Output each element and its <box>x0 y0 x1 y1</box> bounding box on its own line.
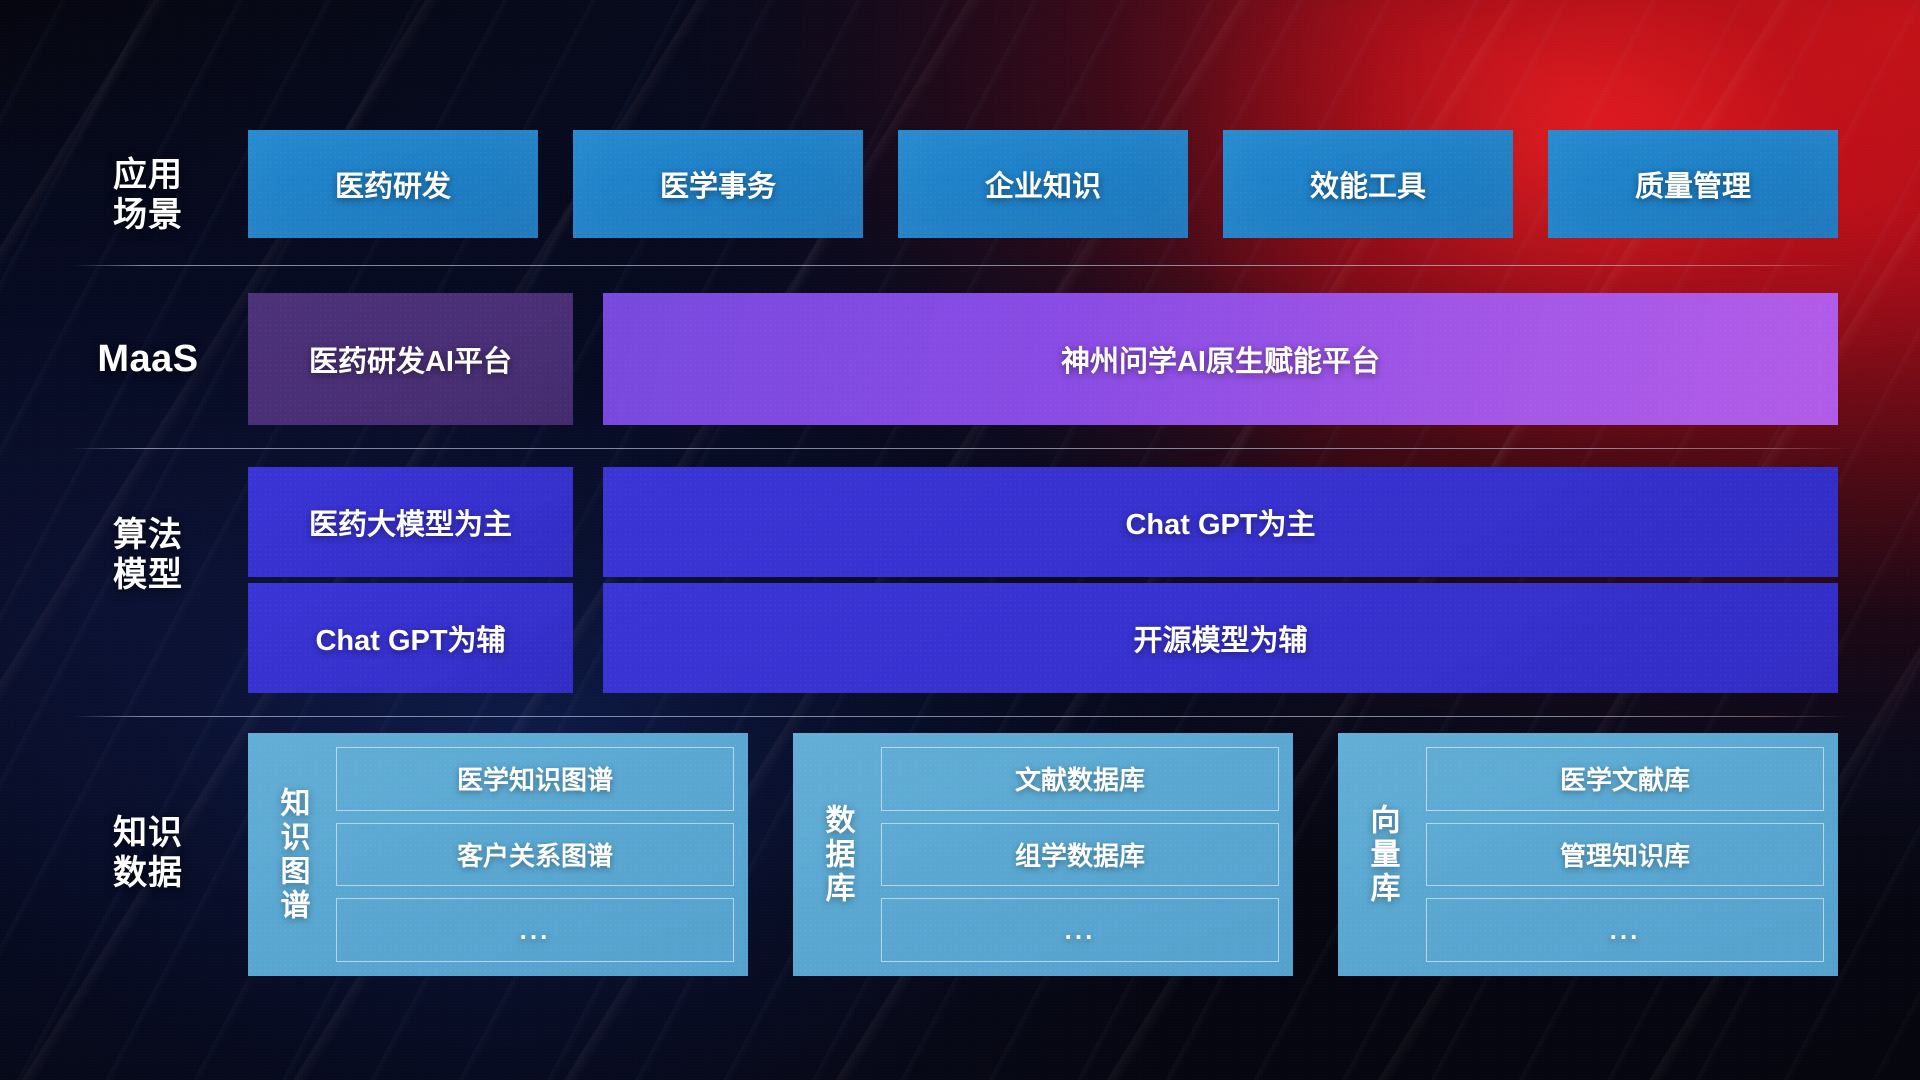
maas-platform-card-2[interactable]: 神州问学AI原生赋能平台 <box>603 293 1838 425</box>
knowledge-card-database-label: 数据库 <box>793 747 881 962</box>
slide-canvas: 应用 场景 医药研发 医学事务 企业知识 效能工具 质量管理 MaaS 医药研发… <box>0 0 1920 1080</box>
model-card-pharma-primary-label: 医药大模型为主 <box>309 501 512 543</box>
model-card-opensource-secondary[interactable]: 开源模型为辅 <box>603 583 1838 693</box>
scenario-card-1-label: 医药研发 <box>335 163 451 205</box>
model-card-opensource-secondary-label: 开源模型为辅 <box>1133 617 1307 659</box>
row-label-algorithm-models: 算法 模型 <box>58 515 238 595</box>
knowledge-card-knowledge-graph-label: 知识图谱 <box>248 747 336 962</box>
divider-after-scenarios <box>72 265 1848 266</box>
divider-after-maas <box>72 448 1848 449</box>
knowledge-item-more[interactable]: ... <box>881 898 1279 962</box>
row-label-application-scenarios: 应用 场景 <box>58 155 238 235</box>
knowledge-card-knowledge-graph-items: 医学知识图谱 客户关系图谱 ... <box>336 747 734 962</box>
knowledge-item[interactable]: 客户关系图谱 <box>336 823 734 887</box>
model-card-chatgpt-secondary-label: Chat GPT为辅 <box>315 617 505 659</box>
knowledge-item[interactable]: 医学知识图谱 <box>336 747 734 811</box>
maas-platform-card-2-label: 神州问学AI原生赋能平台 <box>1061 338 1380 380</box>
maas-platform-card-1[interactable]: 医药研发AI平台 <box>248 293 573 425</box>
scenario-card-4-label: 效能工具 <box>1310 163 1426 205</box>
knowledge-item-more[interactable]: ... <box>336 898 734 962</box>
architecture-diagram: 应用 场景 医药研发 医学事务 企业知识 效能工具 质量管理 MaaS 医药研发… <box>0 0 1920 1080</box>
maas-platform-card-1-label: 医药研发AI平台 <box>309 338 512 380</box>
scenario-card-2[interactable]: 医学事务 <box>573 130 863 238</box>
knowledge-item[interactable]: 管理知识库 <box>1426 823 1824 887</box>
scenario-card-1[interactable]: 医药研发 <box>248 130 538 238</box>
knowledge-card-database[interactable]: 数据库 文献数据库 组学数据库 ... <box>793 733 1293 976</box>
knowledge-item-more[interactable]: ... <box>1426 898 1824 962</box>
knowledge-card-vector-store-label: 向量库 <box>1338 747 1426 962</box>
scenario-card-3-label: 企业知识 <box>985 163 1101 205</box>
model-card-pharma-primary[interactable]: 医药大模型为主 <box>248 467 573 577</box>
knowledge-item[interactable]: 组学数据库 <box>881 823 1279 887</box>
model-card-chatgpt-primary-label: Chat GPT为主 <box>1125 501 1315 543</box>
scenario-card-3[interactable]: 企业知识 <box>898 130 1188 238</box>
model-card-chatgpt-secondary[interactable]: Chat GPT为辅 <box>248 583 573 693</box>
knowledge-card-database-items: 文献数据库 组学数据库 ... <box>881 747 1279 962</box>
knowledge-card-knowledge-graph[interactable]: 知识图谱 医学知识图谱 客户关系图谱 ... <box>248 733 748 976</box>
knowledge-item[interactable]: 医学文献库 <box>1426 747 1824 811</box>
row-label-maas: MaaS <box>58 337 238 382</box>
knowledge-card-vector-store[interactable]: 向量库 医学文献库 管理知识库 ... <box>1338 733 1838 976</box>
knowledge-item[interactable]: 文献数据库 <box>881 747 1279 811</box>
scenario-card-4[interactable]: 效能工具 <box>1223 130 1513 238</box>
divider-after-models <box>72 716 1848 717</box>
scenario-card-5-label: 质量管理 <box>1635 163 1751 205</box>
scenario-card-5[interactable]: 质量管理 <box>1548 130 1838 238</box>
knowledge-card-vector-store-items: 医学文献库 管理知识库 ... <box>1426 747 1824 962</box>
model-card-chatgpt-primary[interactable]: Chat GPT为主 <box>603 467 1838 577</box>
scenario-card-2-label: 医学事务 <box>660 163 776 205</box>
row-label-knowledge-data: 知识 数据 <box>58 813 238 893</box>
